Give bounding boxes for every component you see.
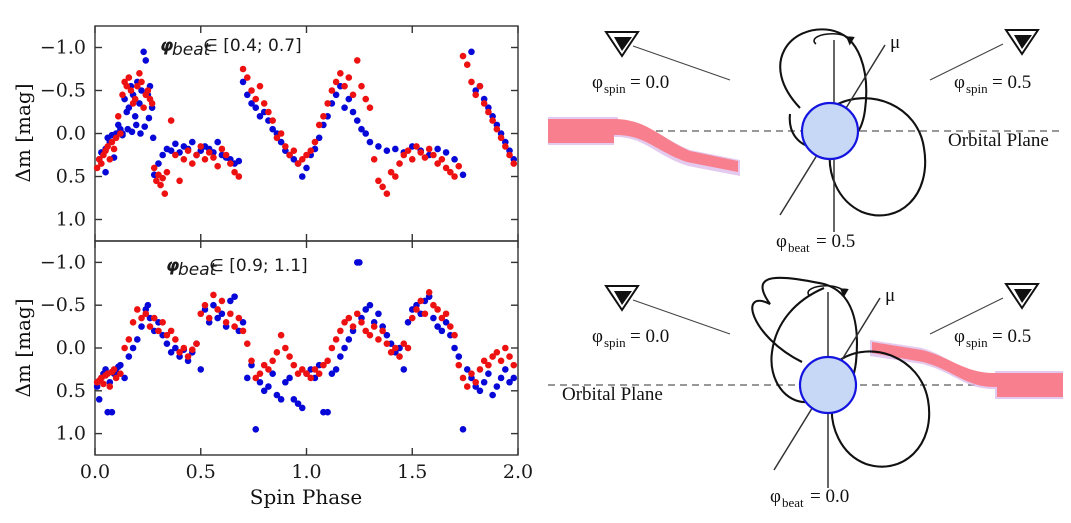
geometry-diagram-panel: μ φ spin = 0.0 φ spin xyxy=(540,0,1071,523)
xtick-labels: 0.00.51.01.52.0 xyxy=(80,461,533,483)
data-point-blue xyxy=(324,409,331,416)
data-point-blue xyxy=(489,392,496,399)
data-point-blue xyxy=(400,366,407,373)
data-point-red xyxy=(464,383,471,390)
data-point-red xyxy=(193,152,200,159)
data-point-red xyxy=(291,147,298,154)
data-point-blue xyxy=(142,57,149,64)
spin-label-left-bottom: φ spin = 0.0 xyxy=(592,326,669,350)
spin-right-phi-top: φ xyxy=(954,72,965,93)
data-point-red xyxy=(107,383,114,390)
data-point-blue xyxy=(132,113,139,120)
data-point-red xyxy=(489,117,496,124)
data-point-red xyxy=(358,319,365,326)
data-point-blue xyxy=(286,375,293,382)
data-point-blue xyxy=(96,396,103,403)
data-point-red xyxy=(219,146,226,153)
data-point-red xyxy=(472,92,479,99)
data-point-red xyxy=(151,165,158,172)
data-point-red xyxy=(375,178,382,185)
data-point-red xyxy=(168,117,175,124)
data-point-red xyxy=(447,323,454,330)
data-point-red xyxy=(350,92,357,99)
data-point-red xyxy=(261,100,268,107)
data-point-blue xyxy=(214,139,221,146)
data-point-blue xyxy=(244,375,251,382)
data-point-red xyxy=(477,366,484,373)
data-point-red xyxy=(485,109,492,116)
data-point-blue xyxy=(117,362,124,369)
data-point-blue xyxy=(375,143,382,150)
data-point-blue xyxy=(134,336,141,343)
data-point-red xyxy=(362,96,369,103)
data-point-blue xyxy=(468,49,475,56)
data-point-red xyxy=(111,366,118,373)
data-point-red xyxy=(333,336,340,343)
data-point-blue xyxy=(278,396,285,403)
orbital-plane-label-bottom: Orbital Plane xyxy=(562,384,663,405)
data-point-red xyxy=(405,345,412,352)
data-point-red xyxy=(155,328,162,335)
viewer-icon-left-bottom xyxy=(606,286,638,310)
data-point-red xyxy=(145,87,152,94)
white-dwarf-bottom xyxy=(800,357,856,413)
data-point-red xyxy=(202,156,209,163)
data-point-blue xyxy=(146,115,153,122)
bottom-panel-datapoints xyxy=(94,259,517,433)
data-point-blue xyxy=(236,158,243,165)
mu-label-top: μ xyxy=(890,32,900,53)
data-point-red xyxy=(498,135,505,142)
ytick-label: 1.0 xyxy=(56,209,86,231)
ytick-label: −0.5 xyxy=(40,80,86,102)
data-point-red xyxy=(426,146,433,153)
data-point-red xyxy=(409,315,416,322)
data-point-red xyxy=(477,83,484,90)
top-annot-range: ∈ [0.4; 0.7] xyxy=(203,36,302,56)
data-point-red xyxy=(413,143,420,150)
spin-right-sub-bottom: spin xyxy=(966,335,988,350)
data-point-red xyxy=(219,298,226,305)
data-point-red xyxy=(392,173,399,180)
rotation-arrow-top xyxy=(814,34,850,44)
data-point-red xyxy=(506,353,513,360)
data-point-blue xyxy=(197,366,204,373)
data-point-red xyxy=(278,130,285,137)
top-panel-datapoints xyxy=(94,49,517,198)
data-point-blue xyxy=(375,310,382,317)
spin-right-sub-top: spin xyxy=(966,81,988,96)
ytick-label: 0.5 xyxy=(56,166,86,188)
beat-label-top: φ beat = 0.5 xyxy=(776,231,855,255)
data-point-blue xyxy=(102,169,109,176)
data-point-red xyxy=(274,349,281,356)
data-point-blue xyxy=(164,340,171,347)
data-point-red xyxy=(367,332,374,339)
data-point-red xyxy=(181,345,188,352)
data-point-red xyxy=(384,190,391,197)
data-point-red xyxy=(464,61,471,68)
ytick-label: 0.0 xyxy=(56,337,86,359)
spin-left-val-bottom: = 0.0 xyxy=(630,326,669,347)
data-point-red xyxy=(117,370,124,377)
top-panel-ytick-labels: −1.0−0.50.00.51.0 xyxy=(40,37,86,231)
data-point-blue xyxy=(337,353,344,360)
data-point-red xyxy=(354,57,361,64)
data-point-red xyxy=(417,149,424,156)
data-point-blue xyxy=(494,383,501,390)
data-point-red xyxy=(214,306,221,313)
data-point-red xyxy=(206,149,213,156)
data-point-red xyxy=(358,83,365,90)
viewer-icon-right-bottom xyxy=(1006,284,1038,308)
data-point-red xyxy=(346,315,353,322)
data-point-blue xyxy=(133,122,140,129)
data-point-red xyxy=(371,323,378,330)
data-point-blue xyxy=(252,104,259,111)
data-point-red xyxy=(426,289,433,296)
data-point-red xyxy=(439,156,446,163)
data-point-blue xyxy=(341,104,348,111)
data-point-red xyxy=(164,169,171,176)
data-point-red xyxy=(443,310,450,317)
ytick-label: 0.5 xyxy=(56,380,86,402)
spin-left-phi-bottom: φ xyxy=(592,326,603,347)
data-point-red xyxy=(337,70,344,77)
data-point-blue xyxy=(159,152,166,159)
data-point-blue xyxy=(299,405,306,412)
ytick-label: −1.0 xyxy=(40,37,86,59)
data-point-red xyxy=(506,152,513,159)
data-point-red xyxy=(236,315,243,322)
data-point-red xyxy=(248,358,255,365)
data-point-red xyxy=(485,362,492,369)
data-point-red xyxy=(244,74,251,81)
data-point-blue xyxy=(126,353,133,360)
data-point-blue xyxy=(460,171,467,178)
data-point-red xyxy=(460,375,467,382)
data-point-red xyxy=(128,87,135,94)
data-point-red xyxy=(329,345,336,352)
data-point-blue xyxy=(333,366,340,373)
data-point-red xyxy=(107,156,114,163)
data-point-red xyxy=(132,96,139,103)
data-point-blue xyxy=(299,173,306,180)
data-point-blue xyxy=(150,135,157,142)
data-point-red xyxy=(510,160,517,167)
data-point-red xyxy=(269,117,276,124)
data-point-red xyxy=(350,323,357,330)
data-point-blue xyxy=(356,259,363,266)
data-point-blue xyxy=(384,147,391,154)
ytick-label: −1.0 xyxy=(40,251,86,273)
data-point-blue xyxy=(434,146,441,153)
beat-val-bottom: = 0.0 xyxy=(810,486,849,507)
beat-phi-bottom: φ xyxy=(770,486,781,507)
data-point-blue xyxy=(140,49,147,56)
data-point-red xyxy=(269,358,276,365)
data-point-red xyxy=(392,345,399,352)
data-point-red xyxy=(451,173,458,180)
top-panel-frame xyxy=(95,26,518,241)
data-point-red xyxy=(367,104,374,111)
data-point-blue xyxy=(485,370,492,377)
data-point-red xyxy=(172,152,179,159)
data-point-red xyxy=(494,349,501,356)
data-point-red xyxy=(140,104,147,111)
beat-val-top: = 0.5 xyxy=(816,231,855,252)
data-point-red xyxy=(189,346,196,353)
data-point-blue xyxy=(510,375,517,382)
data-point-red xyxy=(136,70,143,77)
white-dwarf-top xyxy=(802,103,858,159)
data-point-red xyxy=(111,146,118,153)
data-point-blue xyxy=(362,130,369,137)
data-point-red xyxy=(161,190,168,197)
data-point-red xyxy=(210,292,217,299)
data-point-red xyxy=(117,130,124,137)
data-point-blue xyxy=(439,328,446,335)
data-point-red xyxy=(244,340,251,347)
data-point-red xyxy=(413,306,420,313)
data-point-blue xyxy=(303,165,310,172)
bottom-panel-ytick-labels: −1.0−0.50.00.51.0 xyxy=(40,251,86,444)
data-point-red xyxy=(354,310,361,317)
data-point-red xyxy=(371,156,378,163)
data-point-blue xyxy=(129,128,136,135)
data-point-red xyxy=(472,379,479,386)
data-point-red xyxy=(312,139,319,146)
data-point-red xyxy=(307,375,314,382)
data-point-blue xyxy=(189,139,196,146)
data-point-blue xyxy=(392,146,399,153)
data-point-red xyxy=(147,323,154,330)
spin-right-val-bottom: = 0.5 xyxy=(992,326,1031,347)
data-point-red xyxy=(214,163,221,170)
lightcurve-plot-panel: −1.0−0.50.00.51.0 −1.0−0.50.00.51.0 0.00… xyxy=(0,0,540,523)
data-point-red xyxy=(248,87,255,94)
data-point-red xyxy=(396,353,403,360)
bottom-annot-range: ∈ [0.9; 1.1] xyxy=(209,256,308,276)
data-point-red xyxy=(468,79,475,86)
data-point-red xyxy=(149,100,156,107)
ytick-label: −0.5 xyxy=(40,294,86,316)
data-point-red xyxy=(193,340,200,347)
beat-sub-top: beat xyxy=(788,240,810,255)
data-point-red xyxy=(265,366,272,373)
data-point-red xyxy=(126,74,133,81)
data-point-red xyxy=(176,178,183,185)
data-point-red xyxy=(379,328,386,335)
data-point-blue xyxy=(367,139,374,146)
data-point-red xyxy=(494,126,501,133)
data-point-red xyxy=(460,53,467,60)
spin-left-sub-bottom: spin xyxy=(604,335,626,350)
data-point-red xyxy=(422,154,429,161)
top-panel-annotation: φ beat ∈ [0.4; 0.7] xyxy=(160,36,302,60)
data-point-red xyxy=(329,87,336,94)
bottom-panel-annotation: φ beat ∈ [0.9; 1.1] xyxy=(166,256,308,280)
data-point-red xyxy=(324,358,331,365)
data-point-red xyxy=(231,323,238,330)
data-point-blue xyxy=(430,315,437,322)
data-point-red xyxy=(257,370,264,377)
data-point-blue xyxy=(138,323,145,330)
top-panel-ticks xyxy=(95,26,518,241)
mu-label-bottom: μ xyxy=(885,285,895,306)
spin-left-val-top: = 0.0 xyxy=(630,72,669,93)
data-point-red xyxy=(282,143,289,150)
data-point-red xyxy=(375,336,382,343)
viewer-icon-left-top xyxy=(606,32,638,56)
data-point-red xyxy=(189,160,196,167)
data-point-red xyxy=(286,353,293,360)
data-point-blue xyxy=(341,345,348,352)
data-point-red xyxy=(384,340,391,347)
data-point-red xyxy=(240,328,247,335)
data-point-blue xyxy=(145,302,152,309)
data-point-blue xyxy=(354,117,361,124)
data-point-red xyxy=(134,306,141,313)
data-point-blue xyxy=(451,345,458,352)
data-point-blue xyxy=(141,123,148,130)
data-point-blue xyxy=(130,345,137,352)
data-point-red xyxy=(455,163,462,170)
spin-label-right-bottom: φ spin = 0.5 xyxy=(954,326,1031,350)
data-point-red xyxy=(430,152,437,159)
xtick-label: 1.5 xyxy=(397,461,427,483)
data-point-red xyxy=(257,83,264,90)
data-point-red xyxy=(223,152,230,159)
data-point-blue xyxy=(172,141,179,148)
data-point-red xyxy=(142,310,149,317)
data-point-red xyxy=(379,184,386,191)
data-point-red xyxy=(210,154,217,161)
data-point-red xyxy=(481,100,488,107)
data-point-red xyxy=(100,381,107,388)
data-point-red xyxy=(455,362,462,369)
diagram-bottom: μ φ spin = 0.0 φ spin xyxy=(548,278,1063,510)
data-point-blue xyxy=(350,109,357,116)
data-point-red xyxy=(197,143,204,150)
data-point-red xyxy=(316,122,323,129)
data-point-red xyxy=(324,100,331,107)
data-point-red xyxy=(341,83,348,90)
data-point-blue xyxy=(477,388,484,395)
top-panel-ylabel: Δm [mag] xyxy=(11,83,35,182)
data-point-red xyxy=(240,66,247,73)
data-point-red xyxy=(434,306,441,313)
data-point-red xyxy=(172,336,179,343)
data-point-red xyxy=(197,310,204,317)
data-point-blue xyxy=(460,426,467,433)
data-point-blue xyxy=(137,130,144,137)
data-point-red xyxy=(346,74,353,81)
data-point-red xyxy=(157,182,164,189)
data-point-blue xyxy=(498,375,505,382)
data-point-red xyxy=(151,315,158,322)
data-point-red xyxy=(265,109,272,116)
data-point-red xyxy=(185,147,192,154)
spin-label-right-top: φ spin = 0.5 xyxy=(954,72,1031,96)
spin-left-phi-top: φ xyxy=(592,72,603,93)
xtick-label: 2.0 xyxy=(503,461,533,483)
spin-label-left-top: φ spin = 0.0 xyxy=(592,72,669,96)
data-point-blue xyxy=(265,383,272,390)
spin-left-sub-top: spin xyxy=(604,81,626,96)
data-point-red xyxy=(307,147,314,154)
data-point-red xyxy=(278,332,285,339)
bottom-panel-ylabel: Δm [mag] xyxy=(11,298,35,397)
xtick-label: 1.0 xyxy=(291,461,321,483)
data-point-red xyxy=(159,319,166,326)
data-point-red xyxy=(168,328,175,335)
data-point-red xyxy=(227,160,234,167)
data-point-red xyxy=(223,319,230,326)
data-point-red xyxy=(320,113,327,120)
data-point-red xyxy=(405,147,412,154)
data-point-red xyxy=(126,336,133,343)
data-point-red xyxy=(121,345,128,352)
data-point-red xyxy=(451,332,458,339)
xtick-label: 0.0 xyxy=(80,461,110,483)
data-point-red xyxy=(510,362,517,369)
data-point-red xyxy=(422,310,429,317)
data-point-red xyxy=(291,362,298,369)
viewer-icon-right-top xyxy=(1006,30,1038,54)
orbital-plane-label-top: Orbital Plane xyxy=(948,130,1049,151)
beat-phi-top: φ xyxy=(776,231,787,252)
data-point-red xyxy=(130,319,137,326)
data-point-red xyxy=(115,113,122,120)
data-point-blue xyxy=(455,353,462,360)
data-point-red xyxy=(417,298,424,305)
beat-label-bottom: φ beat = 0.0 xyxy=(770,486,849,510)
data-point-red xyxy=(181,156,188,163)
data-point-red xyxy=(282,345,289,352)
ytick-label: 1.0 xyxy=(56,423,86,445)
data-point-red xyxy=(252,96,259,103)
data-point-blue xyxy=(443,149,450,156)
data-point-red xyxy=(316,370,323,377)
figure-root: −1.0−0.50.00.51.0 −1.0−0.50.00.51.0 0.00… xyxy=(0,0,1071,523)
data-point-red xyxy=(468,370,475,377)
data-point-red xyxy=(333,79,340,86)
ytick-label: 0.0 xyxy=(56,123,86,145)
data-point-red xyxy=(502,143,509,150)
accretion-stream-bottom xyxy=(872,342,1063,397)
data-point-blue xyxy=(502,366,509,373)
data-point-blue xyxy=(367,302,374,309)
data-point-blue xyxy=(231,293,238,300)
spin-right-val-top: = 0.5 xyxy=(992,72,1031,93)
data-point-blue xyxy=(481,379,488,386)
data-point-red xyxy=(502,345,509,352)
data-point-red xyxy=(119,92,126,99)
data-point-red xyxy=(138,79,145,86)
spin-right-phi-bottom: φ xyxy=(954,326,965,347)
data-point-blue xyxy=(451,156,458,163)
data-point-red xyxy=(202,302,209,309)
data-point-red xyxy=(159,175,166,182)
accretion-stream-top xyxy=(548,119,738,172)
data-point-red xyxy=(409,156,416,163)
beat-sub-bottom: beat xyxy=(782,495,804,510)
data-point-red xyxy=(337,328,344,335)
diagram-top: μ φ spin = 0.0 φ spin xyxy=(548,29,1063,255)
data-point-red xyxy=(236,173,243,180)
xlabel: Spin Phase xyxy=(250,485,363,509)
